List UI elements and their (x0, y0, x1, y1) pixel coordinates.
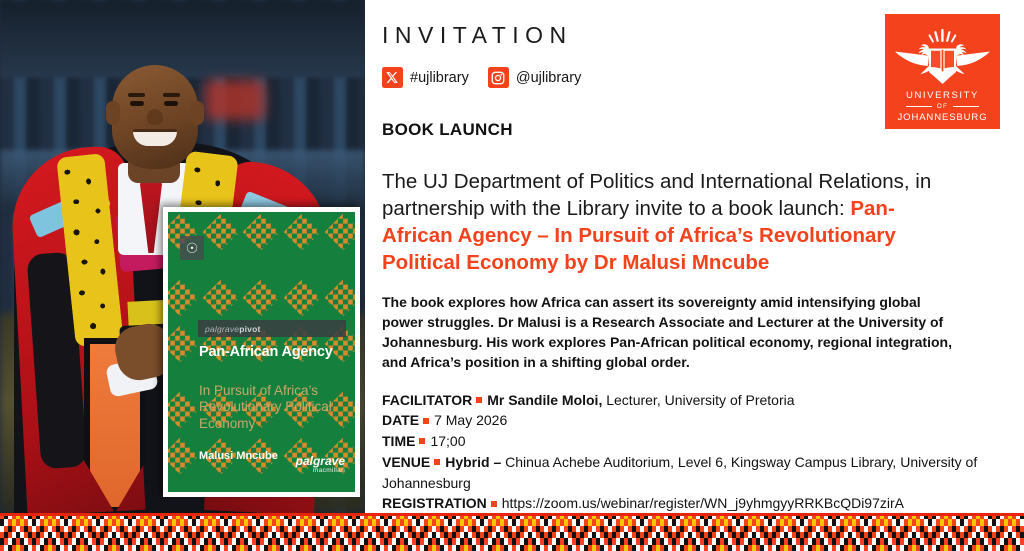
bullet-square-icon (423, 418, 429, 424)
detail-row-date: DATE7 May 2026 (382, 410, 1002, 431)
ear-left (106, 101, 120, 125)
pattern-diamond (163, 392, 199, 429)
bullet-square-icon (419, 438, 425, 444)
social-instagram-handle[interactable]: @ujlibrary (516, 70, 581, 86)
ear-right (190, 101, 204, 125)
detail-strong: Mr Sandile Moloi, (487, 392, 602, 408)
imprint-pivot: pivot (239, 324, 260, 334)
pattern-diamond (203, 280, 240, 317)
uj-crest-icon (885, 26, 1000, 88)
social-x[interactable]: #ujlibrary (382, 67, 469, 88)
detail-value: 7 May 2026 (434, 412, 507, 428)
pattern-diamond (203, 214, 240, 251)
smile (133, 129, 177, 146)
pattern-diamond (163, 280, 199, 317)
lead-text-plain: The UJ Department of Politics and Intern… (382, 170, 931, 220)
book-description: The book explores how Africa can assert … (382, 293, 952, 373)
pattern-diamond (163, 326, 199, 363)
uj-line-university: UNIVERSITY (885, 90, 1000, 101)
nose (147, 109, 163, 125)
detail-label: TIME (382, 433, 415, 449)
uj-line-johannesburg: JOHANNESBURG (885, 112, 1000, 123)
pattern-diamond (243, 280, 280, 317)
detail-row-facilitator: FACILITATORMr Sandile Moloi, Lecturer, U… (382, 390, 1002, 411)
pattern-diamond (163, 438, 199, 475)
imprint-palgrave: palgrave (205, 324, 239, 334)
eyebrow-left (128, 93, 145, 97)
social-x-handle[interactable]: #ujlibrary (410, 70, 469, 86)
social-instagram[interactable]: @ujlibrary (488, 67, 581, 88)
invitation-poster: ☉ palgravepivot Pan-African Agency In Pu… (0, 0, 1024, 551)
event-details: FACILITATORMr Sandile Moloi, Lecturer, U… (382, 390, 1002, 514)
instagram-icon[interactable] (488, 67, 509, 88)
detail-label: VENUE (382, 454, 430, 470)
uj-line-of: OF (937, 103, 948, 110)
pattern-diamond (324, 214, 360, 251)
detail-value: 17;00 (430, 433, 465, 449)
bullet-square-icon (491, 501, 497, 507)
book-subtitle: In Pursuit of Africa’s Revolutionary Pol… (199, 383, 351, 432)
pattern-diamond (284, 214, 321, 251)
beaded-border-topline (0, 513, 1024, 516)
publisher-name: palgrave (296, 455, 345, 467)
x-twitter-icon[interactable] (382, 67, 403, 88)
detail-value: Lecturer, University of Pretoria (602, 392, 794, 408)
uj-logo: UNIVERSITY OF JOHANNESBURG (885, 14, 1000, 129)
book-title: Pan-African Agency (199, 344, 349, 361)
detail-row-time: TIME17;00 (382, 431, 1002, 452)
book-publisher-logo: palgrave macmillan (296, 455, 345, 474)
book-cover: ☉ palgravepivot Pan-African Agency In Pu… (163, 207, 360, 497)
eye-right (164, 101, 178, 106)
pattern-diamond (324, 280, 360, 317)
detail-label: DATE (382, 412, 419, 428)
bullet-square-icon (476, 397, 482, 403)
book-author: Malusi Mncube (199, 450, 278, 462)
pattern-diamond (284, 280, 321, 317)
detail-row-venue: VENUEHybrid – Chinua Achebe Auditorium, … (382, 452, 1002, 493)
sun-emblem-icon: ☉ (180, 236, 204, 260)
detail-strong: Hybrid – (445, 454, 501, 470)
bullet-square-icon (434, 459, 440, 465)
registration-link[interactable]: https://zoom.us/webinar/register/WN_j9yh… (502, 495, 904, 511)
eye-left (130, 101, 144, 106)
detail-label: FACILITATOR (382, 392, 472, 408)
lead-paragraph: The UJ Department of Politics and Intern… (382, 168, 962, 276)
uj-wordmark: UNIVERSITY OF JOHANNESBURG (885, 90, 1000, 123)
publisher-imprint: macmillan (296, 467, 345, 474)
detail-label: REGISTRATION (382, 495, 487, 511)
beaded-border-pattern (0, 513, 1024, 551)
book-imprint-badge: palgravepivot (198, 320, 346, 337)
pattern-diamond (243, 214, 280, 251)
detail-row-registration: REGISTRATIONhttps://zoom.us/webinar/regi… (382, 493, 1002, 514)
eyebrow-right (163, 93, 180, 97)
